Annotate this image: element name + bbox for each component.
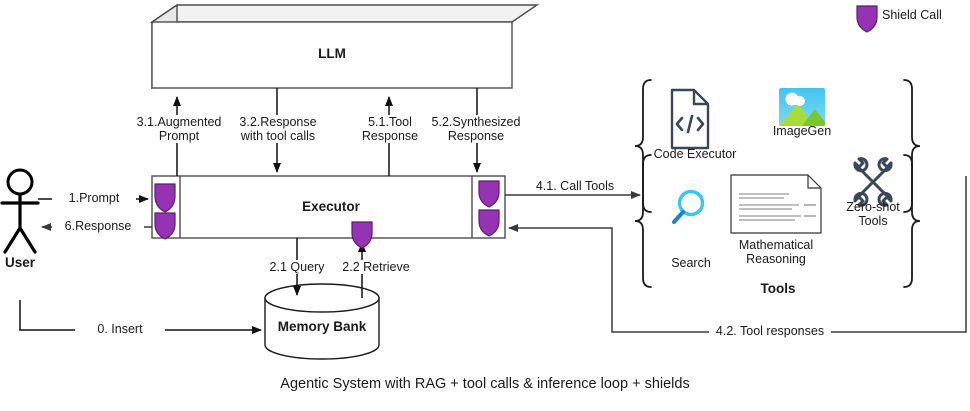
tool-label-imagegen: ImageGen <box>762 124 842 138</box>
edge-label-retrieve: 2.2 Retrieve <box>330 260 422 274</box>
tool-label-search: Search <box>655 256 727 270</box>
user-actor <box>2 170 38 252</box>
shield-icon-legend <box>857 6 877 32</box>
connector-layer <box>0 0 970 411</box>
edge-label-response: 6.Response <box>52 219 144 233</box>
formula-document-icon <box>731 175 821 233</box>
executor-label: Executor <box>286 200 376 214</box>
llm-label: LLM <box>292 47 372 61</box>
tool-label-math-reasoning: Mathematical Reasoning <box>724 238 828 266</box>
legend-shield-label: Shield Call <box>882 8 966 22</box>
user-label: User <box>0 256 45 270</box>
edge-label-tool-response: 5.1.Tool Response <box>345 115 435 143</box>
crossed-wrenches-icon <box>855 159 891 206</box>
edge-label-insert: 0. Insert <box>75 322 165 336</box>
tools-brace-left <box>635 80 651 287</box>
diagram-caption: Agentic System with RAG + tool calls & i… <box>0 377 970 391</box>
edge-label-call-tools: 4.1. Call Tools <box>527 179 623 193</box>
edge-label-resp-toolcalls: 3.2.Response with tool calls <box>230 115 326 143</box>
edge-label-synthesized: 5.2.Synthesized Response <box>424 115 528 143</box>
edge-label-prompt: 1.Prompt <box>52 191 136 205</box>
tools-brace-right <box>904 80 920 287</box>
image-icon <box>779 88 828 126</box>
tool-label-zero-shot: Zero-shot Tools <box>840 200 906 228</box>
edge-label-augmented: 3.1.Augmented Prompt <box>135 115 223 143</box>
edge-label-query: 2.1 Query <box>258 260 336 274</box>
magnifier-icon <box>674 192 703 223</box>
shield-icon-memory <box>352 222 372 248</box>
tools-group-label: Tools <box>738 282 818 296</box>
code-document-icon <box>672 90 708 148</box>
memory-bank-label: Memory Bank <box>267 320 377 334</box>
diagram-canvas: LLM Executor Memory Bank User Tools Code… <box>0 0 970 411</box>
tool-label-code-executor: Code Executor <box>645 147 745 161</box>
edge-label-tool-responses: 4.2. Tool responses <box>709 324 831 338</box>
